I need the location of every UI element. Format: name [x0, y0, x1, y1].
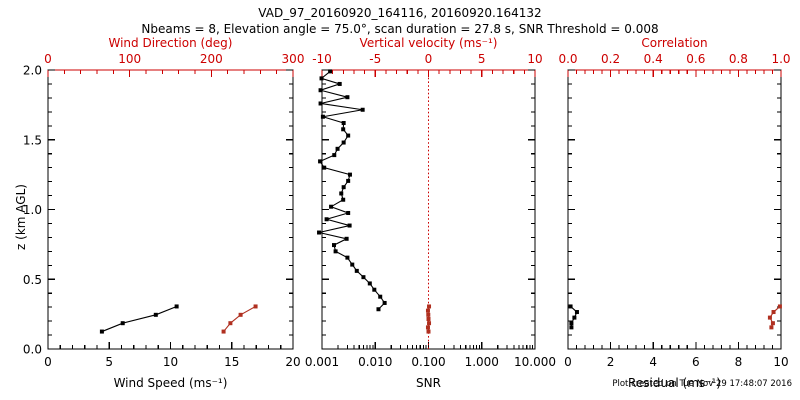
svg-text:0.010: 0.010	[358, 355, 392, 369]
svg-text:10.000: 10.000	[514, 355, 556, 369]
svg-text:6: 6	[692, 355, 700, 369]
data-point	[361, 275, 365, 279]
series-line	[102, 306, 177, 331]
data-point	[427, 304, 431, 308]
svg-text:1.0: 1.0	[771, 52, 790, 66]
data-point	[348, 224, 352, 228]
svg-text:0.6: 0.6	[686, 52, 705, 66]
data-point	[332, 243, 336, 247]
data-point	[254, 304, 258, 308]
svg-text:0: 0	[564, 355, 572, 369]
svg-text:4: 4	[649, 355, 657, 369]
data-point	[154, 313, 158, 317]
data-point	[569, 304, 573, 308]
data-point	[772, 310, 776, 314]
data-point	[321, 115, 325, 119]
data-point	[319, 88, 323, 92]
svg-text:0.2: 0.2	[601, 52, 620, 66]
data-point	[339, 191, 343, 195]
data-point	[346, 179, 350, 183]
data-point	[426, 325, 430, 329]
data-point	[355, 269, 359, 273]
svg-text:0.4: 0.4	[644, 52, 663, 66]
svg-text:0.5: 0.5	[23, 273, 42, 287]
data-point	[575, 310, 579, 314]
data-point	[341, 198, 345, 202]
svg-text:1.000: 1.000	[465, 355, 499, 369]
x-axis-label: Wind Speed (ms⁻¹)	[114, 376, 228, 390]
data-point	[378, 295, 382, 299]
figure-root: VAD_97_20160920_164116, 20160920.164132 …	[0, 0, 800, 400]
svg-text:8: 8	[735, 355, 743, 369]
data-point	[778, 304, 782, 308]
top-axis-label: Wind Direction (deg)	[109, 36, 233, 50]
svg-text:300: 300	[282, 52, 305, 66]
data-point	[361, 108, 365, 112]
svg-text:100: 100	[118, 52, 141, 66]
data-point	[350, 263, 354, 267]
data-point	[572, 316, 576, 320]
svg-text:-5: -5	[369, 52, 381, 66]
data-point	[334, 249, 338, 253]
data-point	[322, 166, 326, 170]
data-point	[427, 317, 431, 321]
data-point	[121, 321, 125, 325]
svg-text:15: 15	[224, 355, 239, 369]
data-point	[320, 76, 324, 80]
data-point	[317, 231, 321, 235]
svg-text:1.5: 1.5	[23, 133, 42, 147]
svg-text:0.8: 0.8	[729, 52, 748, 66]
data-point	[426, 309, 430, 313]
panel-1: 0510152001002003000.00.51.01.52.0Wind Sp…	[23, 36, 305, 390]
svg-text:0.100: 0.100	[411, 355, 445, 369]
data-point	[332, 153, 336, 157]
svg-text:0: 0	[44, 52, 52, 66]
data-point	[228, 321, 232, 325]
panel-2: 0.0010.0100.1001.00010.000-10-50510SNRVe…	[305, 36, 556, 390]
panel-3: 02468100.00.20.40.60.81.0Residual (ms⁻¹)…	[558, 36, 790, 390]
svg-text:1.0: 1.0	[23, 203, 42, 217]
data-point	[342, 121, 346, 125]
data-point	[338, 82, 342, 86]
data-point	[175, 304, 179, 308]
svg-text:10: 10	[527, 52, 542, 66]
data-point	[345, 95, 349, 99]
data-point	[329, 205, 333, 209]
data-point	[427, 321, 431, 325]
top-axis-label: Vertical velocity (ms⁻¹)	[360, 36, 498, 50]
series-line	[224, 306, 256, 331]
plot-canvas: 0510152001002003000.00.51.01.52.0Wind Sp…	[0, 0, 800, 400]
data-point	[771, 321, 775, 325]
svg-text:2.0: 2.0	[23, 64, 42, 78]
data-point	[426, 313, 430, 317]
data-point	[372, 288, 376, 292]
svg-text:0.001: 0.001	[305, 355, 339, 369]
data-point	[376, 307, 380, 311]
data-point	[100, 330, 104, 334]
data-point	[346, 211, 350, 215]
svg-text:0.0: 0.0	[558, 52, 577, 66]
data-point	[336, 147, 340, 151]
svg-text:10: 10	[163, 355, 178, 369]
data-point	[222, 330, 226, 334]
data-point	[342, 141, 346, 145]
svg-text:-10: -10	[312, 52, 332, 66]
data-point	[768, 316, 772, 320]
data-point	[345, 237, 349, 241]
data-point	[368, 281, 372, 285]
data-point	[342, 185, 346, 189]
svg-text:2: 2	[607, 355, 615, 369]
svg-text:5: 5	[105, 355, 113, 369]
svg-text:0: 0	[425, 52, 433, 66]
data-point	[569, 325, 573, 329]
data-point	[348, 173, 352, 177]
data-point	[427, 330, 431, 334]
series-line	[319, 71, 385, 309]
data-point	[769, 325, 773, 329]
svg-text:0.0: 0.0	[23, 343, 42, 357]
x-axis-label: SNR	[416, 376, 441, 390]
data-point	[341, 127, 345, 131]
data-point	[318, 159, 322, 163]
panel-frame	[568, 70, 781, 349]
data-point	[346, 134, 350, 138]
data-point	[239, 313, 243, 317]
svg-text:10: 10	[773, 355, 788, 369]
data-point	[345, 256, 349, 260]
data-point	[569, 321, 573, 325]
svg-text:200: 200	[200, 52, 223, 66]
top-axis-label: Correlation	[641, 36, 707, 50]
svg-text:0: 0	[44, 355, 52, 369]
svg-text:5: 5	[478, 52, 486, 66]
data-point	[325, 217, 329, 221]
x-axis-label: Residual (ms⁻¹)	[628, 376, 721, 390]
data-point	[319, 101, 323, 105]
data-point	[383, 301, 387, 305]
data-point	[328, 69, 332, 73]
svg-text:20: 20	[285, 355, 300, 369]
